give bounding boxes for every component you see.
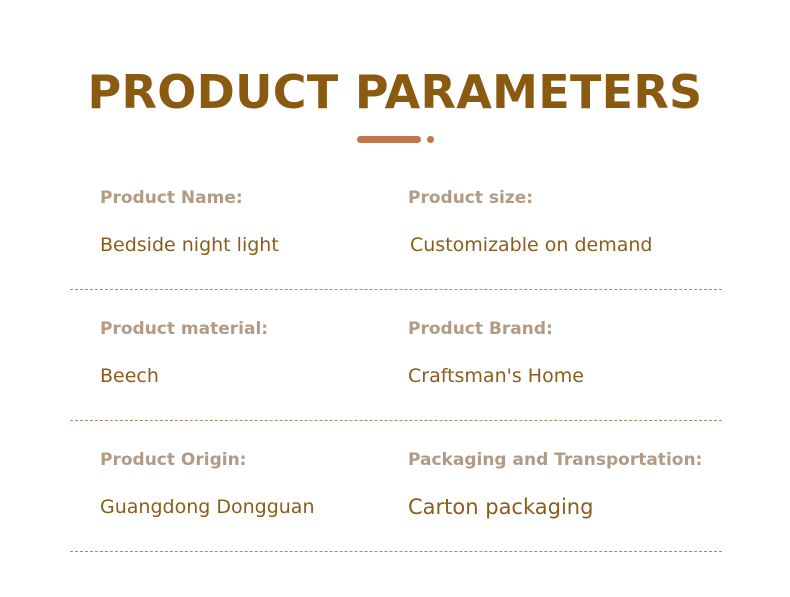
product-parameters-page: PRODUCT PARAMETERS Product Name: Bedside… <box>0 0 790 597</box>
table-row: Product Origin: Guangdong Dongguan Packa… <box>70 448 722 520</box>
spec-label: Product material: <box>100 317 408 341</box>
row-spacer <box>70 258 722 289</box>
page-title: PRODUCT PARAMETERS <box>0 64 790 120</box>
row-spacer <box>70 421 722 448</box>
spec-value: Guangdong Dongguan <box>100 494 408 520</box>
product-spec-table: Product Name: Bedside night light Produc… <box>70 186 722 552</box>
spec-label: Packaging and Transportation: <box>408 448 722 472</box>
row-divider <box>70 420 722 421</box>
row-divider <box>70 551 722 552</box>
title-underline-dot-icon <box>427 136 434 143</box>
row-spacer <box>70 389 722 420</box>
spec-cell-product-name: Product Name: Bedside night light <box>70 186 408 258</box>
spec-label: Product Origin: <box>100 448 408 472</box>
title-underline-bar-icon <box>357 136 421 143</box>
spec-value: Customizable on demand <box>408 232 722 258</box>
spec-value: Carton packaging <box>408 494 722 520</box>
row-spacer <box>70 520 722 551</box>
spec-value: Bedside night light <box>100 232 408 258</box>
title-ornament <box>0 133 790 145</box>
table-row: Product Name: Bedside night light Produc… <box>70 186 722 258</box>
row-divider <box>70 289 722 290</box>
spec-value: Craftsman's Home <box>408 363 722 389</box>
table-row: Product material: Beech Product Brand: C… <box>70 317 722 389</box>
spec-label: Product Brand: <box>408 317 722 341</box>
spec-value: Beech <box>100 363 408 389</box>
spec-cell-product-material: Product material: Beech <box>70 317 408 389</box>
spec-cell-product-size: Product size: Customizable on demand <box>408 186 722 258</box>
page-title-block: PRODUCT PARAMETERS <box>0 64 790 120</box>
row-spacer <box>70 290 722 317</box>
spec-cell-packaging-transportation: Packaging and Transportation: Carton pac… <box>408 448 722 520</box>
spec-cell-product-origin: Product Origin: Guangdong Dongguan <box>70 448 408 520</box>
spec-cell-product-brand: Product Brand: Craftsman's Home <box>408 317 722 389</box>
spec-label: Product Name: <box>100 186 408 210</box>
spec-label: Product size: <box>408 186 722 210</box>
